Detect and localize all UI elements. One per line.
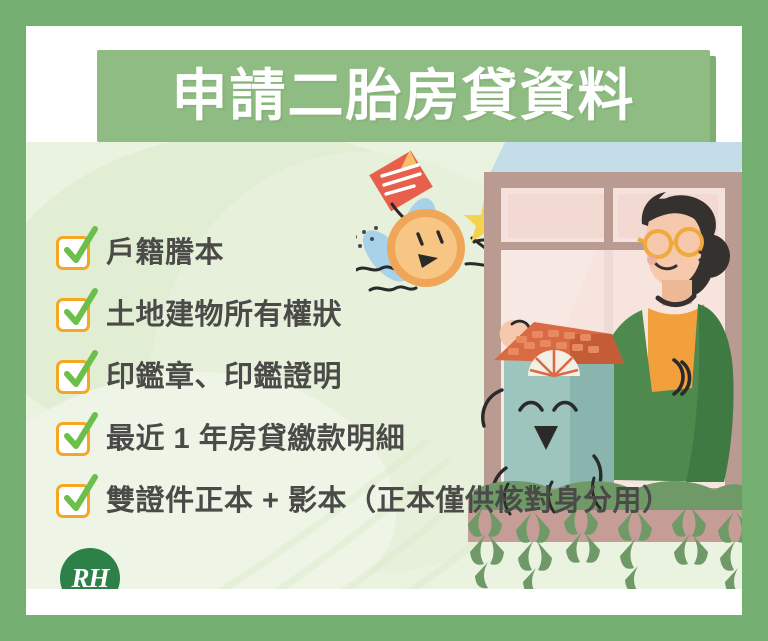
poster-canvas: 申請二胎房貸資料 bbox=[0, 0, 768, 641]
checkbox-checked-icon[interactable] bbox=[56, 484, 90, 518]
brand-logo-text: RH bbox=[71, 563, 108, 590]
checklist-item[interactable]: 印鑑章、印鑑證明 bbox=[56, 346, 672, 408]
checklist-item[interactable]: 雙證件正本 + 影本（正本僅供核對身分用） bbox=[56, 470, 672, 532]
content-panel: 戶籍謄本 土地建物所有權狀 印鑑章、印鑑證明 最近 1 年房貸繳款明細 bbox=[26, 142, 742, 589]
checklist-item-label: 印鑑章、印鑑證明 bbox=[106, 363, 342, 392]
document-checklist: 戶籍謄本 土地建物所有權狀 印鑑章、印鑑證明 最近 1 年房貸繳款明細 bbox=[56, 222, 672, 532]
page-title: 申請二胎房貸資料 bbox=[172, 68, 636, 124]
checklist-item-label: 土地建物所有權狀 bbox=[106, 301, 342, 330]
checklist-item-label: 雙證件正本 + 影本（正本僅供核對身分用） bbox=[106, 487, 672, 516]
brand-logo: RH bbox=[60, 548, 120, 589]
checklist-item[interactable]: 戶籍謄本 bbox=[56, 222, 672, 284]
checkbox-checked-icon[interactable] bbox=[56, 236, 90, 270]
checklist-item-label: 戶籍謄本 bbox=[106, 239, 224, 268]
title-banner: 申請二胎房貸資料 bbox=[97, 50, 710, 142]
checkbox-checked-icon[interactable] bbox=[56, 422, 90, 456]
checkbox-checked-icon[interactable] bbox=[56, 298, 90, 332]
checklist-item[interactable]: 土地建物所有權狀 bbox=[56, 284, 672, 346]
checkbox-checked-icon[interactable] bbox=[56, 360, 90, 394]
checklist-item[interactable]: 最近 1 年房貸繳款明細 bbox=[56, 408, 672, 470]
checklist-item-label: 最近 1 年房貸繳款明細 bbox=[106, 425, 405, 454]
document-paper bbox=[367, 149, 435, 213]
